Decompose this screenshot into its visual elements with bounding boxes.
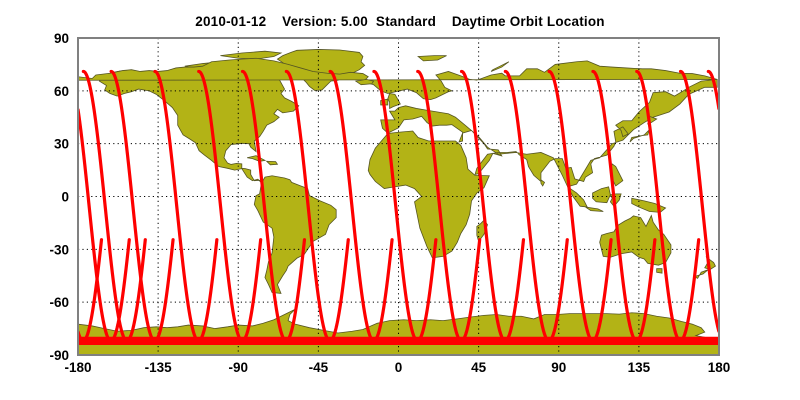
- y-tick-label: -60: [49, 295, 69, 310]
- x-axis-tick-labels: -180-135-90-4504590135180: [64, 360, 730, 375]
- orbit-map-svg: -180-135-90-4504590135180 -90-60-3003060…: [0, 0, 800, 400]
- orbit-location-figure: 2010-01-12 Version: 5.00 Standard Daytim…: [0, 0, 800, 400]
- y-tick-label: 30: [54, 137, 69, 152]
- x-tick-label: 0: [395, 360, 403, 375]
- x-tick-label: -135: [145, 360, 173, 375]
- y-tick-label: -90: [49, 348, 69, 363]
- y-tick-label: 60: [54, 84, 69, 99]
- y-tick-label: 90: [54, 31, 69, 46]
- x-tick-label: 90: [551, 360, 566, 375]
- y-axis-tick-labels: -90-60-300306090: [49, 31, 69, 363]
- y-tick-label: -30: [49, 242, 69, 257]
- x-tick-label: 180: [708, 360, 731, 375]
- plot-container: -180-135-90-4504590135180 -90-60-3003060…: [0, 0, 800, 400]
- land-tasmania: [657, 269, 662, 273]
- x-tick-label: -45: [309, 360, 329, 375]
- x-tick-label: 45: [471, 360, 487, 375]
- y-tick-label: 0: [61, 190, 69, 205]
- x-tick-label: 135: [628, 360, 651, 375]
- x-tick-label: -90: [228, 360, 248, 375]
